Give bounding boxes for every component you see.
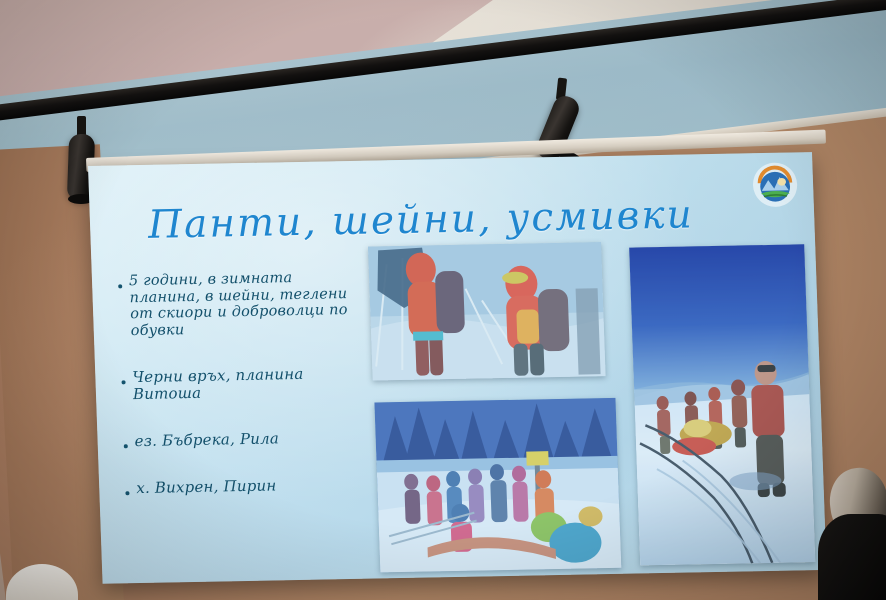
bullet-dot-icon <box>122 380 126 384</box>
organization-logo-icon <box>750 160 800 209</box>
photo-climbers-artwork <box>368 242 606 380</box>
list-item: ез. Бъбрека, Рила <box>113 429 372 451</box>
person-torso <box>818 514 886 600</box>
presentation-slide: Панти, шейни, усмивки 5 години, в зимнат… <box>88 152 827 584</box>
list-item: х. Вихрен, Пирин <box>115 476 374 498</box>
bullet-dot-icon <box>124 445 128 449</box>
bullet-text: х. Вихрен, Пирин <box>136 478 277 498</box>
projection-screen: Панти, шейни, усмивки 5 години, в зимнат… <box>88 152 827 584</box>
bullet-dot-icon <box>118 284 122 288</box>
list-item: Черни връх, планина Витоша <box>111 365 370 404</box>
bullet-text: Черни връх, планина Витоша <box>132 365 370 404</box>
slide-title: Панти, шейни, усмивки <box>147 192 694 247</box>
bullet-text: 5 години, в зимната планина, в шейни, те… <box>129 269 368 340</box>
photo-slope <box>629 244 815 565</box>
photo-slope-artwork <box>629 244 815 565</box>
bullet-text: ез. Бъбрека, Рила <box>134 431 279 451</box>
photo-group-artwork <box>374 398 621 573</box>
bullet-dot-icon <box>125 492 129 496</box>
audience-member-right <box>796 460 886 600</box>
room-scene: Панти, шейни, усмивки 5 години, в зимнат… <box>0 0 886 600</box>
list-item: 5 години, в зимната планина, в шейни, те… <box>108 269 368 340</box>
slide-bullet-list: 5 години, в зимната планина, в шейни, те… <box>108 269 375 528</box>
photo-climbers <box>368 242 606 380</box>
photo-group <box>374 398 621 573</box>
